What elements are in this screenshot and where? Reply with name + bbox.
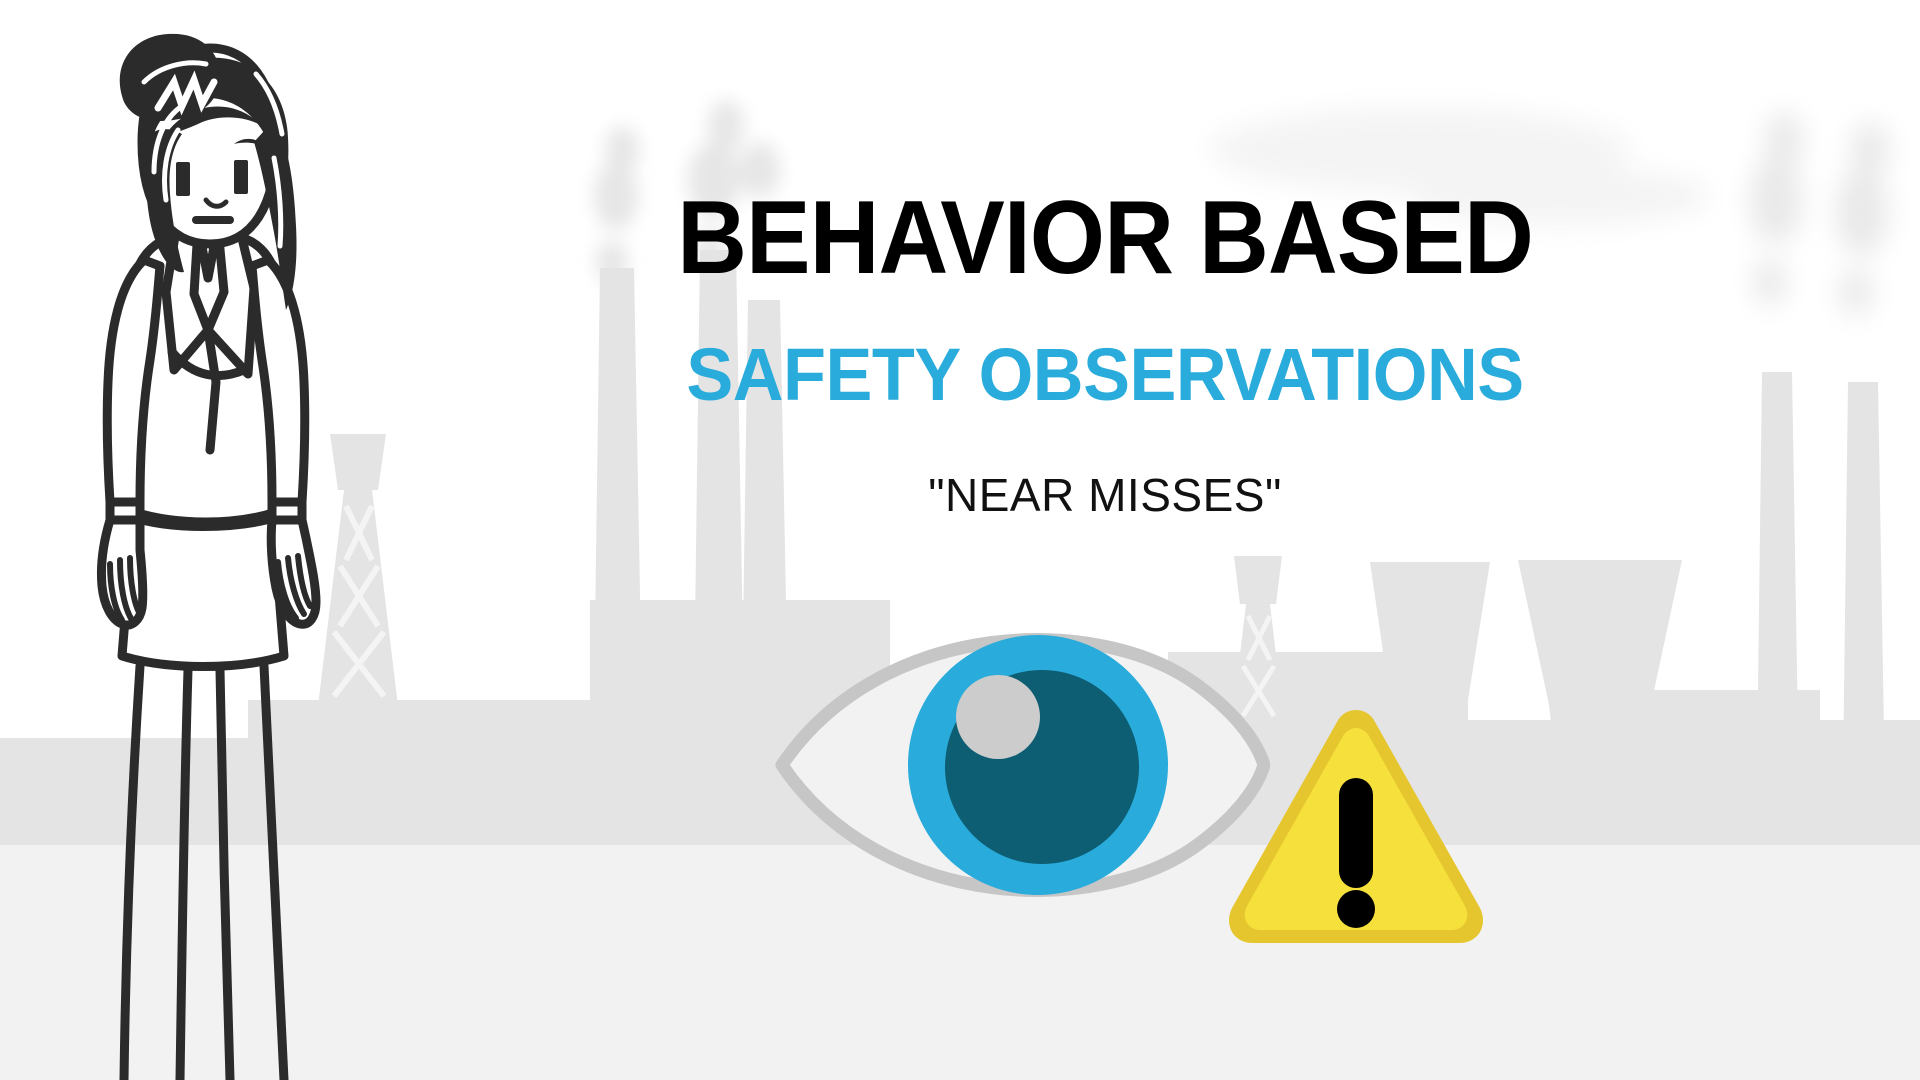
warning-triangle-icon [1222, 700, 1490, 950]
leg-left-inner [180, 670, 188, 1080]
slide-canvas: BEHAVIOR BASED SAFETY OBSERVATIONS "NEAR… [0, 0, 1920, 1080]
mouth [192, 216, 234, 224]
smoke-plume [1851, 122, 1889, 178]
smoke-plume [740, 142, 780, 198]
eye-highlight [956, 675, 1040, 759]
smoke-plume [1836, 168, 1888, 256]
smoke-plume [708, 100, 744, 152]
eye-left [176, 162, 190, 196]
smoke-plume [1410, 166, 1710, 226]
smoke-plume [688, 142, 740, 218]
eye-icon [770, 595, 1270, 935]
smoke-plume [1840, 268, 1872, 316]
leg-right-outer [264, 666, 284, 1080]
smoke-plume [1754, 258, 1786, 306]
exclamation-dot [1337, 890, 1375, 928]
leg-right-inner [220, 670, 230, 1080]
factory-block [1640, 690, 1820, 850]
businesswoman-illustration [48, 30, 378, 1080]
smoke-plume [1750, 156, 1802, 244]
leg-left-outer [124, 666, 140, 1080]
smoke-plume [1765, 112, 1803, 168]
exclamation-bar [1339, 778, 1373, 888]
smoke-plume [605, 126, 639, 174]
eye-right [234, 160, 248, 194]
